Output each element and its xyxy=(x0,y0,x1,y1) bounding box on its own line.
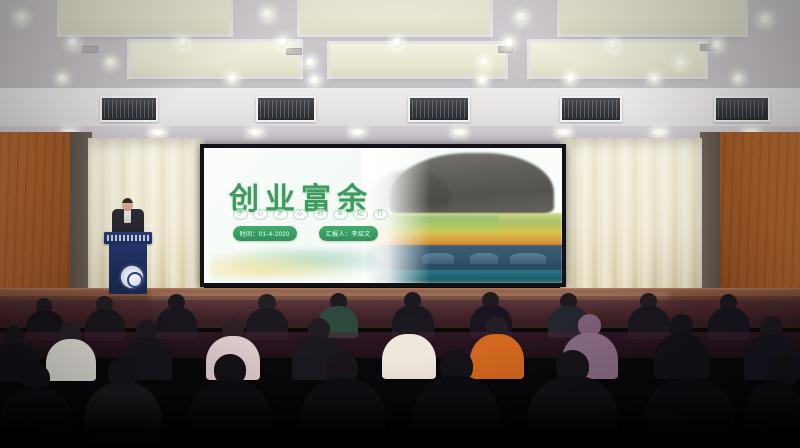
speaker-shirt xyxy=(124,210,131,223)
subtitle-dot: 起 xyxy=(353,209,368,220)
wood-panel-right xyxy=(715,132,800,297)
ceiling-downlight xyxy=(392,38,402,48)
ceiling xyxy=(0,0,800,92)
audience-person-cream-jacket xyxy=(382,334,436,379)
soffit-light xyxy=(452,129,467,136)
ceiling-downlight xyxy=(178,38,188,48)
wall-recess-right xyxy=(700,132,720,292)
ceiling-downlight xyxy=(306,58,315,67)
podium xyxy=(104,232,152,294)
subtitle-dot: 创 xyxy=(313,209,328,220)
slide-subtitle-dots: 于 心 梦 心 创 业 起 行 xyxy=(233,209,388,220)
ceiling-downlight xyxy=(608,40,618,50)
led-screen: 创业富余 于 心 梦 心 创 业 起 行 时间：01-4-2020 汇报人：李绍… xyxy=(200,144,566,287)
presentation-slide: 创业富余 于 心 梦 心 创 业 起 行 时间：01-4-2020 汇报人：李绍… xyxy=(204,148,562,283)
subtitle-dot: 业 xyxy=(333,209,348,220)
subtitle-dot: 心 xyxy=(293,209,308,220)
ceiling-downlight xyxy=(310,76,319,85)
wood-panel-left xyxy=(0,132,80,297)
ceiling-vent xyxy=(82,46,98,53)
ceiling-downlight xyxy=(68,38,78,48)
ceiling-downlight xyxy=(650,74,659,83)
wall-window xyxy=(560,96,622,122)
photo-bottom-shadow xyxy=(0,394,800,448)
ceiling-downlight xyxy=(712,40,722,50)
ceiling-vent xyxy=(286,48,302,55)
ceiling-downlight xyxy=(228,74,237,83)
wall-window xyxy=(100,96,158,122)
ceiling-downlight xyxy=(504,38,514,48)
subtitle-dot: 于 xyxy=(233,209,248,220)
ceiling-downlight xyxy=(262,9,273,20)
wall-window xyxy=(256,96,316,122)
slide-artwork xyxy=(362,148,562,283)
soffit-light xyxy=(150,129,165,136)
slide-badges: 时间：01-4-2020 汇报人：李绍文 xyxy=(233,226,378,241)
ceiling-downlight xyxy=(760,14,771,25)
ceiling-coffer xyxy=(560,0,745,34)
ceiling-downlight xyxy=(278,38,288,48)
soffit-light xyxy=(556,129,571,136)
ceiling-downlight xyxy=(106,58,115,67)
ceiling-downlight xyxy=(734,74,743,83)
soffit-light xyxy=(652,129,667,136)
podium-top xyxy=(104,232,152,244)
subtitle-dot: 行 xyxy=(373,209,388,220)
speaker-head xyxy=(122,198,133,211)
soffit-light xyxy=(248,129,263,136)
podium-banner-text xyxy=(107,235,149,241)
ceiling-coffer xyxy=(300,0,490,34)
ceiling-downlight xyxy=(16,12,27,23)
stage-curtain-right xyxy=(560,138,702,296)
slide-watercolor-wash xyxy=(211,248,376,278)
ceiling-downlight xyxy=(58,74,67,83)
ceiling-downlight xyxy=(478,76,487,85)
audience-person-orange-jacket xyxy=(470,334,524,379)
audience-person-white-jacket xyxy=(46,339,96,381)
ceiling-downlight xyxy=(676,58,685,67)
subtitle-dot: 心 xyxy=(253,209,268,220)
slide-badge-date: 时间：01-4-2020 xyxy=(233,226,297,241)
auditorium-photo: 创业富余 于 心 梦 心 创 业 起 行 时间：01-4-2020 汇报人：李绍… xyxy=(0,0,800,448)
wall-window xyxy=(408,96,470,122)
subtitle-dot: 梦 xyxy=(273,209,288,220)
wall-window xyxy=(714,96,770,122)
ceiling-coffer xyxy=(330,44,505,76)
university-emblem-icon xyxy=(121,266,143,288)
ceiling-downlight xyxy=(480,58,489,67)
ceiling-coffer xyxy=(130,42,300,76)
podium-body xyxy=(109,244,147,294)
slide-badge-presenter: 汇报人：李绍文 xyxy=(319,226,378,241)
ceiling-coffer xyxy=(60,0,230,34)
soffit-light xyxy=(350,129,365,136)
ceiling-downlight xyxy=(516,12,527,23)
ceiling-downlight xyxy=(566,74,575,83)
